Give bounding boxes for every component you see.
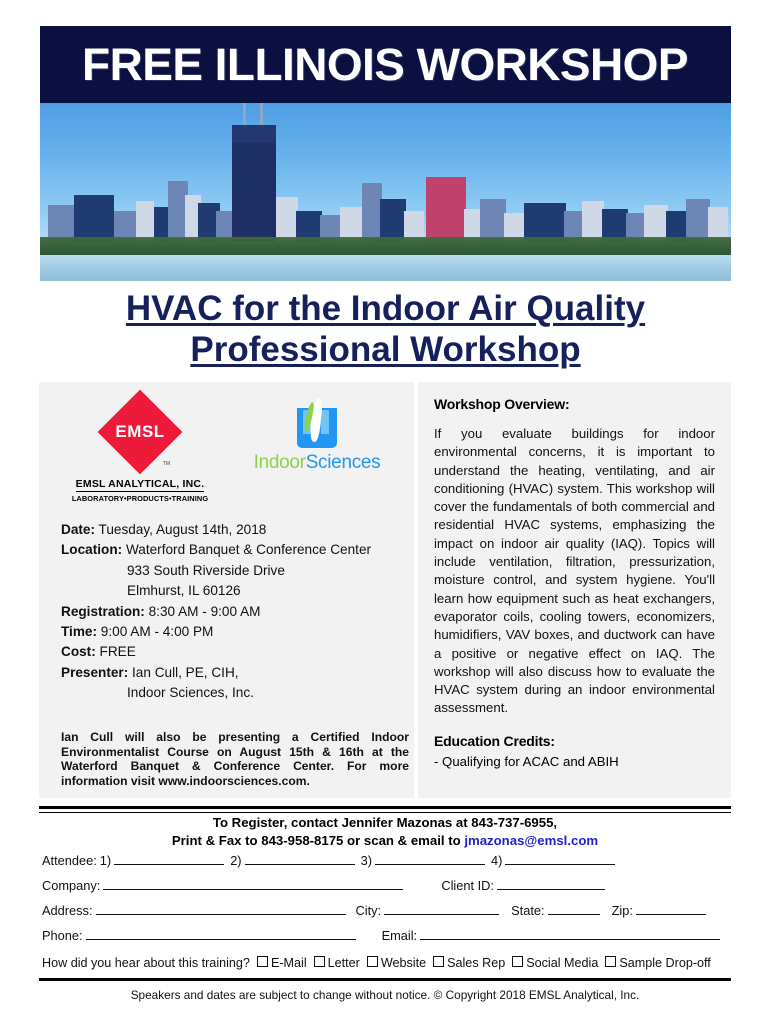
phone-input[interactable] [86, 927, 356, 940]
option-label-social-media: Social Media [526, 956, 598, 970]
checkbox-social-media[interactable] [512, 956, 523, 967]
phone-row: Phone: Email: [42, 927, 730, 952]
building [340, 207, 364, 241]
option-label-website: Website [381, 956, 426, 970]
indoor-sciences-logo: IndoorSciences [227, 398, 407, 474]
indoor-sciences-wordmark: IndoorSciences [227, 452, 407, 474]
time-value: 9:00 AM - 4:00 PM [101, 624, 214, 639]
attendee-row: Attendee: 1) 2) 3) 4) [42, 852, 730, 877]
detail-presenter: Presenter: Ian Cull, PE, CIH, [61, 663, 409, 683]
address-input[interactable] [96, 902, 346, 915]
option-label-letter: Letter [328, 956, 360, 970]
location-label: Location: [61, 542, 122, 557]
address-label: Address: [42, 903, 93, 918]
beaker-slot-right [321, 410, 329, 434]
building [74, 195, 114, 241]
option-label-sales-rep: Sales Rep [447, 956, 505, 970]
building [136, 201, 154, 241]
cost-value: FREE [100, 644, 136, 659]
client-id-input[interactable] [497, 877, 605, 890]
registration-form: Attendee: 1) 2) 3) 4) Company: Client ID… [42, 852, 730, 981]
presenter-label: Presenter: [61, 665, 128, 680]
attendee-2-number: 2) [230, 853, 241, 868]
presenter-value: Ian Cull, PE, CIH, [132, 665, 239, 680]
how-heard-label: How did you hear about this training? [42, 956, 250, 970]
wordmark-indoor: Indoor [254, 452, 306, 473]
building [362, 183, 382, 241]
checkbox-sales-rep[interactable] [433, 956, 444, 967]
building [686, 199, 710, 241]
beaker-flame-icon [289, 398, 345, 450]
attendee-4-number: 4) [491, 853, 502, 868]
company-input[interactable] [103, 877, 403, 890]
attendee-1-input[interactable] [114, 852, 224, 865]
checkbox-website[interactable] [367, 956, 378, 967]
email-input[interactable] [420, 927, 720, 940]
attendee-3-input[interactable] [375, 852, 485, 865]
headline-line-2: Professional Workshop [40, 329, 731, 370]
detail-time: Time: 9:00 AM - 4:00 PM [61, 622, 409, 642]
registration-label: Registration: [61, 604, 145, 619]
email-label: Email: [382, 928, 418, 943]
building [276, 197, 298, 241]
emsl-tagline: LABORATORY•PRODUCTS•TRAINING [69, 494, 211, 503]
wordmark-sciences: Sciences [306, 452, 381, 473]
company-label: Company: [42, 878, 100, 893]
city-label: City: [356, 903, 382, 918]
footer-notice: Speakers and dates are subject to change… [39, 988, 731, 1002]
presenter-line-2: Indoor Sciences, Inc. [61, 683, 409, 703]
divider-bottom [39, 978, 731, 981]
time-label: Time: [61, 624, 97, 639]
client-id-label: Client ID: [441, 878, 494, 893]
divider-top [39, 806, 731, 809]
workshop-headline: HVAC for the Indoor Air Quality Professi… [40, 288, 731, 370]
email-link[interactable]: jmazonas@emsl.com [464, 833, 598, 848]
education-credits-item: - Qualifying for ACAC and ABIH [434, 753, 715, 771]
detail-cost: Cost: FREE [61, 642, 409, 662]
page-title: FREE ILLINOIS WORKSHOP [83, 39, 689, 91]
location-value: Waterford Banquet & Conference Center [126, 542, 371, 557]
date-label: Date: [61, 522, 95, 537]
register-block: To Register, contact Jennifer Mazonas at… [39, 814, 731, 850]
city-input[interactable] [384, 902, 499, 915]
registration-value: 8:30 AM - 9:00 AM [149, 604, 261, 619]
logo-row: EMSL TM EMSL ANALYTICAL, INC. LABORATORY… [39, 382, 414, 515]
willis-tower-top [232, 125, 276, 143]
register-line-2: Print & Fax to 843-958-8175 or scan & em… [39, 832, 731, 850]
trademark-mark: TM [163, 461, 170, 467]
detail-location: Location: Waterford Banquet & Conference… [61, 540, 409, 560]
state-label: State: [511, 903, 544, 918]
building [708, 207, 728, 241]
option-label-email: E-Mail [271, 956, 307, 970]
register-line-2-text: Print & Fax to 843-958-8175 or scan & em… [172, 833, 464, 848]
state-input[interactable] [548, 902, 600, 915]
lake-water [40, 255, 731, 281]
attendee-1-number: 1) [100, 853, 111, 868]
attendee-3-number: 3) [361, 853, 372, 868]
education-credits-heading: Education Credits: [434, 733, 715, 749]
attendee-4-input[interactable] [505, 852, 615, 865]
overview-body: If you evaluate buildings for indoor env… [434, 425, 715, 718]
checkbox-letter[interactable] [314, 956, 325, 967]
emsl-company-name: EMSL ANALYTICAL, INC. [76, 478, 205, 492]
building [582, 201, 604, 241]
detail-date: Date: Tuesday, August 14th, 2018 [61, 520, 409, 540]
building [480, 199, 506, 241]
event-details-list: Date: Tuesday, August 14th, 2018 Locatio… [61, 520, 409, 704]
company-row: Company: Client ID: [42, 877, 730, 902]
emsl-logo: EMSL TM EMSL ANALYTICAL, INC. LABORATORY… [69, 390, 211, 503]
tree-line [40, 237, 731, 257]
overview-heading: Workshop Overview: [434, 396, 715, 412]
building [524, 203, 566, 241]
chicago-skyline-image [40, 103, 731, 281]
left-info-panel: EMSL TM EMSL ANALYTICAL, INC. LABORATORY… [39, 382, 414, 798]
attendee-label: Attendee: [42, 853, 97, 868]
headline-line-1: HVAC for the Indoor Air Quality [40, 288, 731, 329]
address-row: Address: City: State: Zip: [42, 902, 730, 927]
attendee-2-input[interactable] [245, 852, 355, 865]
building [48, 205, 74, 241]
detail-registration: Registration: 8:30 AM - 9:00 AM [61, 602, 409, 622]
option-label-sample-drop-off: Sample Drop-off [619, 956, 710, 970]
register-line-1: To Register, contact Jennifer Mazonas at… [39, 814, 731, 832]
building [380, 199, 406, 241]
flyer-page: FREE ILLINOIS WORKSHOP [0, 0, 770, 1024]
checkbox-email[interactable] [257, 956, 268, 967]
date-value: Tuesday, August 14th, 2018 [99, 522, 267, 537]
emsl-diamond-icon: EMSL TM [98, 390, 182, 474]
building [644, 205, 668, 241]
header-title-bar: FREE ILLINOIS WORKSHOP [40, 26, 731, 103]
location-line-2: 933 South Riverside Drive [61, 561, 409, 581]
workshop-overview-panel: Workshop Overview: If you evaluate build… [418, 382, 731, 798]
zip-label: Zip: [612, 903, 633, 918]
phone-label: Phone: [42, 928, 83, 943]
zip-input[interactable] [636, 902, 706, 915]
location-line-3: Elmhurst, IL 60126 [61, 581, 409, 601]
building-pink [426, 177, 466, 241]
certification-note: Ian Cull will also be presenting a Certi… [61, 730, 409, 788]
cost-label: Cost: [61, 644, 96, 659]
checkbox-sample-drop-off[interactable] [605, 956, 616, 967]
